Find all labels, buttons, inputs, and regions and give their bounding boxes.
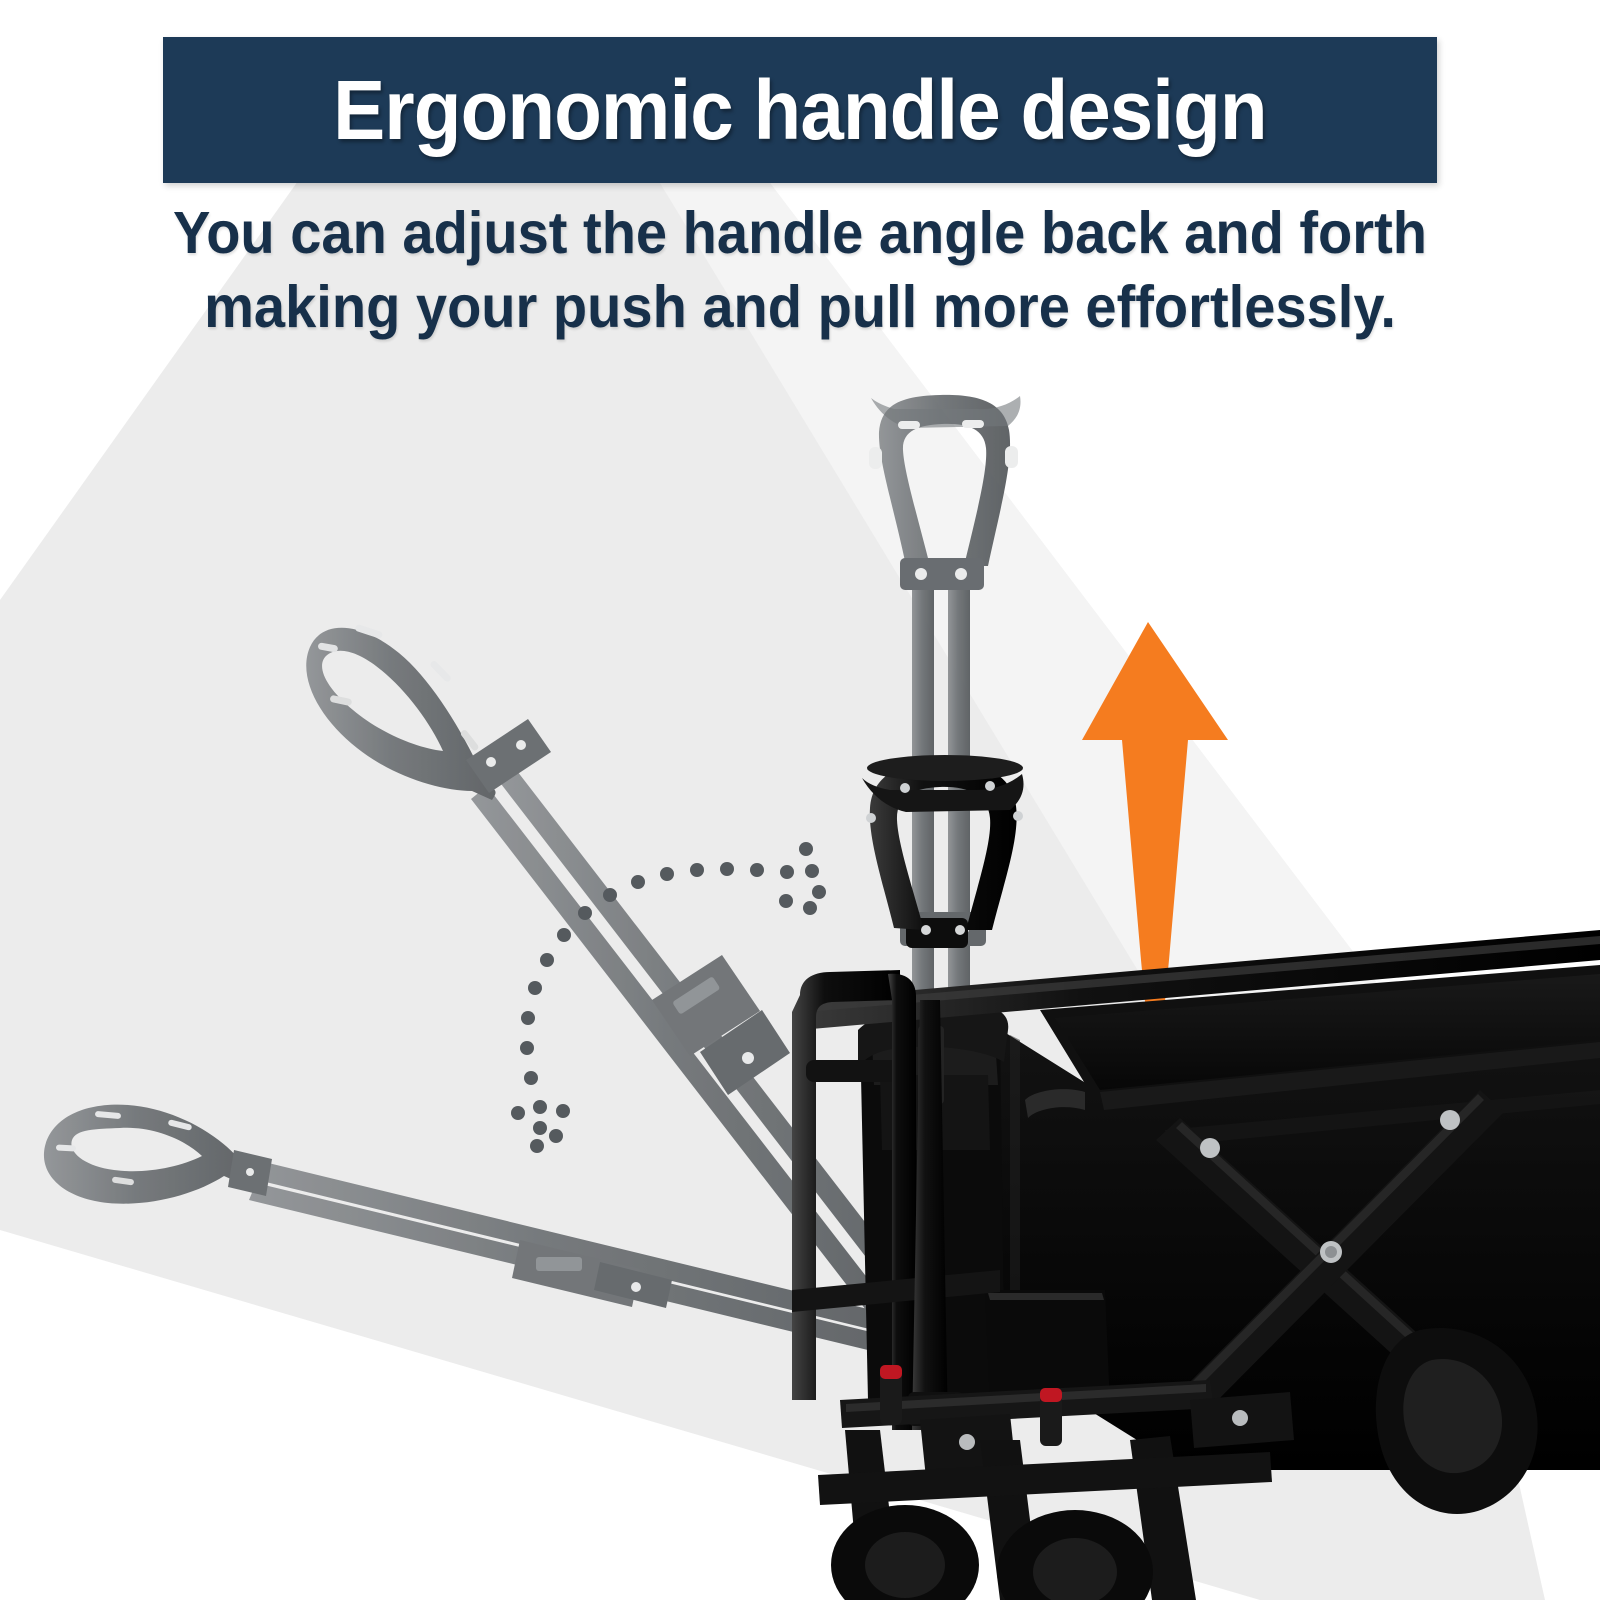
release-lever-accent-right bbox=[1040, 1388, 1062, 1402]
product-illustration bbox=[0, 0, 1600, 1600]
product-feature-image: Ergonomic handle design You can adjust t… bbox=[0, 0, 1600, 1600]
release-lever-accent-left bbox=[880, 1365, 902, 1379]
